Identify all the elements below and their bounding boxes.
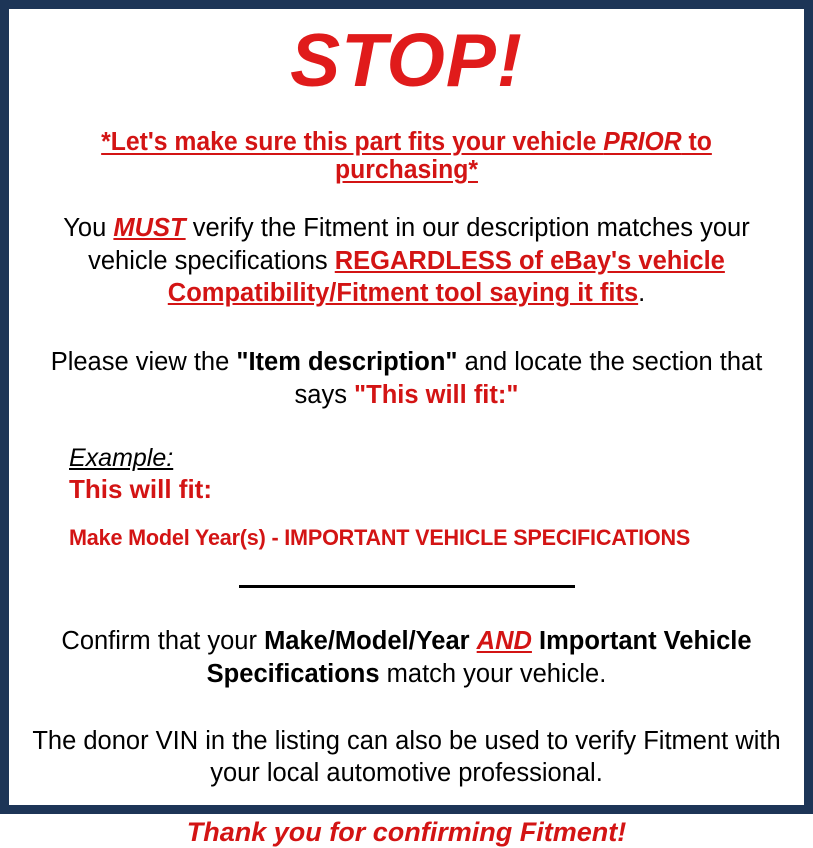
confirm-seg-1: Confirm that your [61,627,264,655]
thank-you-line: Thank you for confirming Fitment! [21,816,792,848]
confirm-emphasis-make-model-year: Make/Model/Year [264,627,470,655]
example-this-will-fit-label: This will fit: [69,475,792,505]
confirm-paragraph: Confirm that your Make/Model/Year AND Im… [21,625,792,690]
fitment-notice-card: STOP! *Let's make sure this part fits yo… [0,0,813,814]
please-emphasis-this-will-fit: "This will fit:" [354,381,518,409]
please-seg-1: Please view the [51,348,237,376]
must-emphasis-must: MUST [113,214,185,242]
subtitle-emphasis-prior: PRIOR [603,128,681,156]
subtitle-text-before: *Let's make sure this part fits your veh… [101,128,603,156]
donor-vin-paragraph: The donor VIN in the listing can also be… [21,725,792,790]
confirm-emphasis-and: AND [477,627,532,655]
must-seg-1: You [63,214,113,242]
example-label-wrap: Example: [69,445,792,473]
divider-wrap [21,577,792,595]
must-seg-3: . [638,279,645,307]
please-emphasis-item-description: "Item description" [236,348,457,376]
example-block: Example: This will fit: Make Model Year(… [21,445,792,550]
confirm-seg-3 [532,627,539,655]
confirm-seg-4: match your vehicle. [380,660,607,688]
subtitle-banner: *Let's make sure this part fits your veh… [33,128,781,184]
must-verify-paragraph: You MUST verify the Fitment in our descr… [21,212,792,310]
stop-heading: STOP! [21,23,792,98]
example-label: Example: [69,445,173,473]
horizontal-divider [239,585,575,588]
confirm-seg-2 [470,627,477,655]
example-spec-line: Make Model Year(s) - IMPORTANT VEHICLE S… [69,526,763,551]
please-view-paragraph: Please view the "Item description" and l… [21,346,792,411]
